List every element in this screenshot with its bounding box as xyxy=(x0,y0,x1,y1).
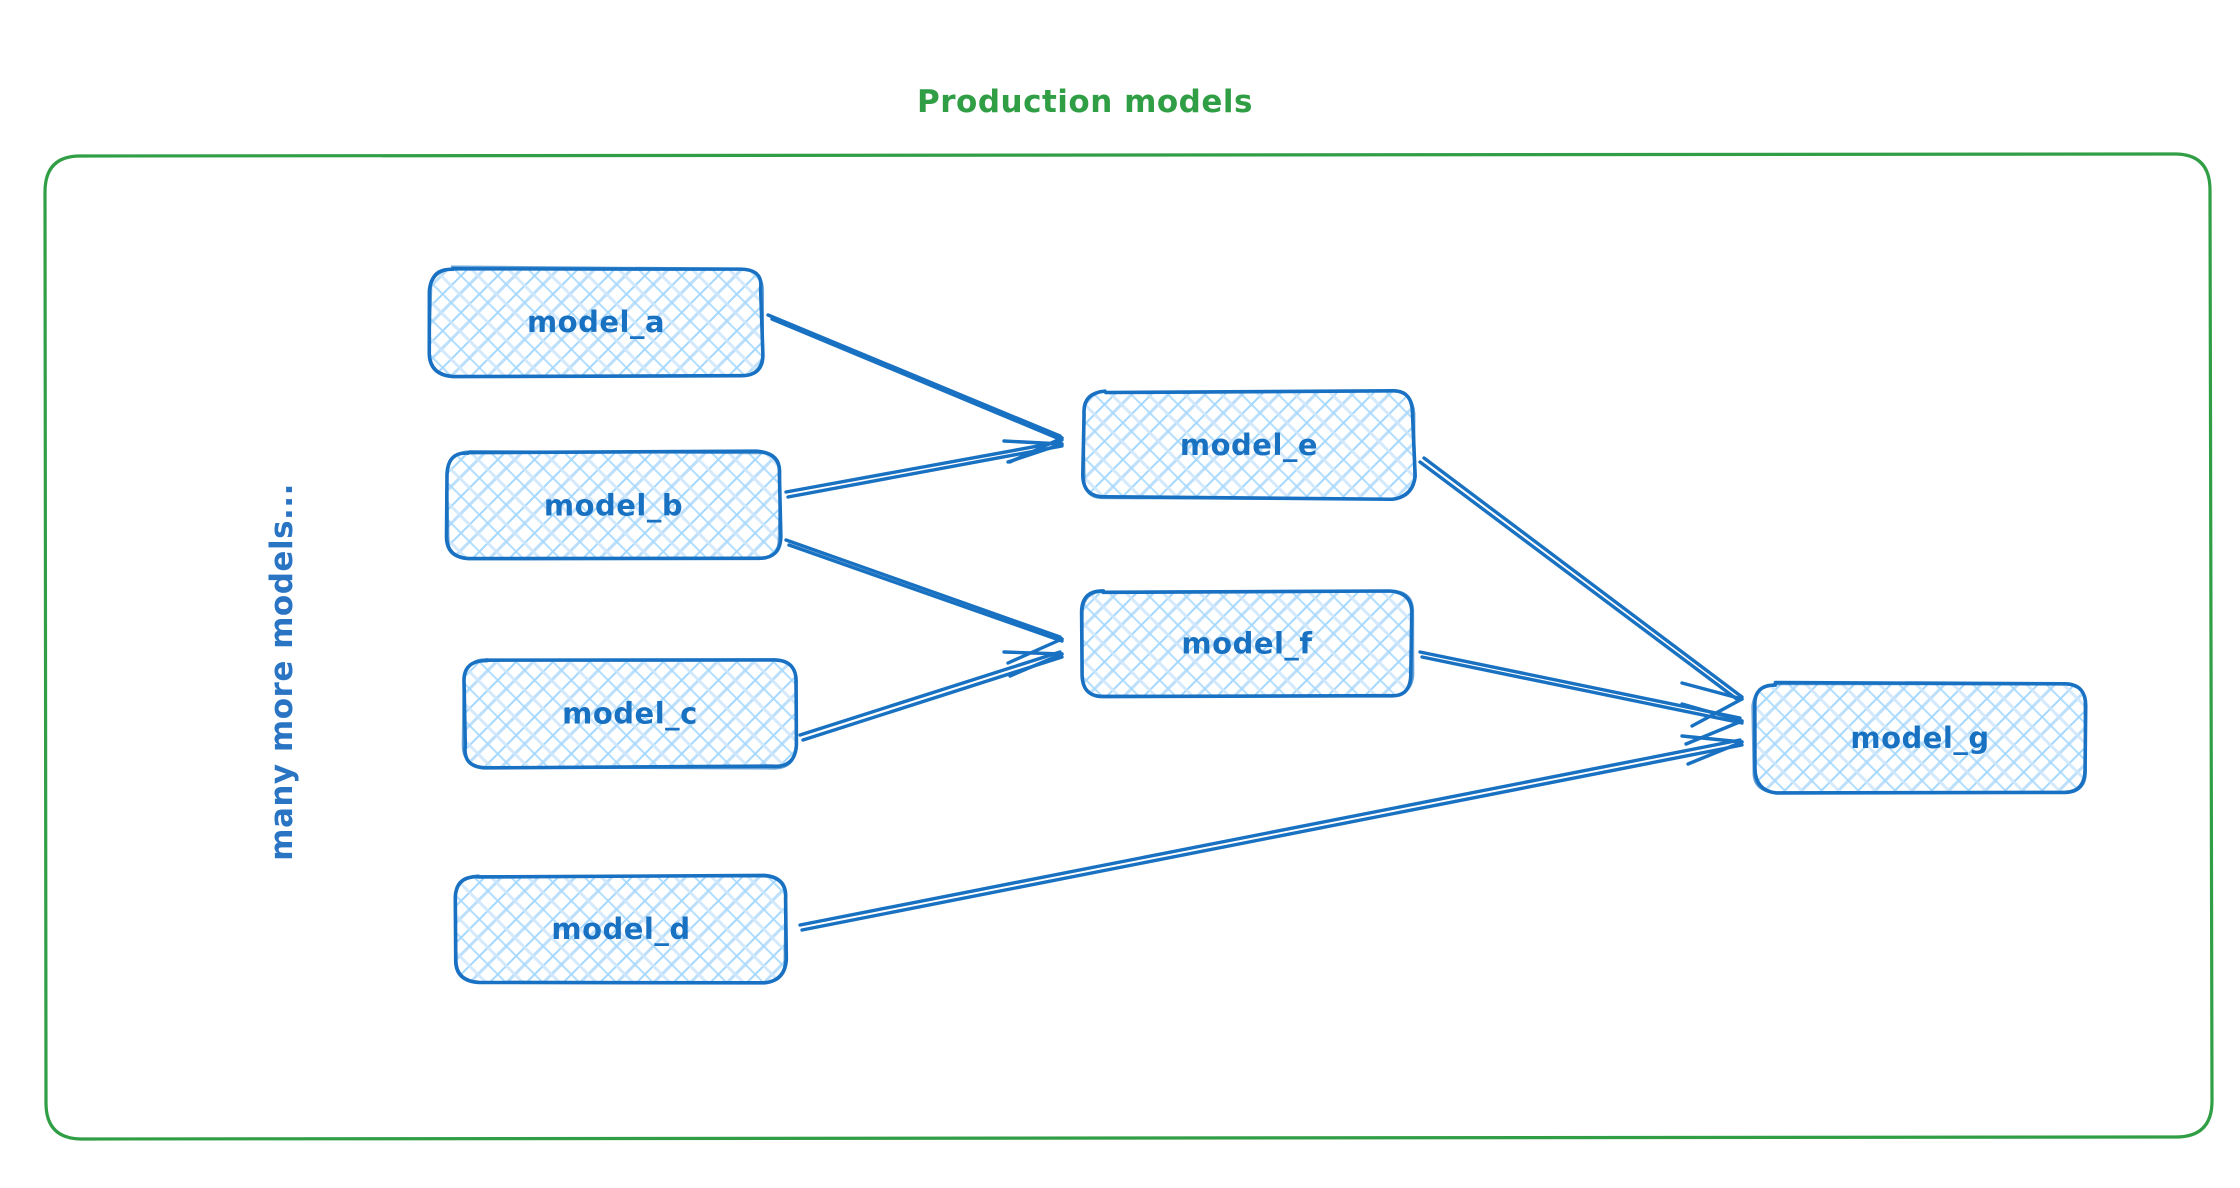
edge-model_c-model_f xyxy=(800,652,1062,740)
node-label: model_c xyxy=(562,697,698,731)
many-more-models-note: many more models... xyxy=(264,483,300,861)
node-model_e[interactable]: model_e xyxy=(1083,391,1415,499)
edge-model_b-model_e xyxy=(786,441,1062,497)
node-label: model_e xyxy=(1180,428,1318,462)
edge-model_a-model_e xyxy=(768,315,1062,462)
node-label: model_d xyxy=(551,912,690,946)
node-layer: model_amodel_bmodel_cmodel_dmodel_emodel… xyxy=(429,267,2086,983)
edge-model_d-model_g xyxy=(800,736,1742,930)
node-model_c[interactable]: model_c xyxy=(463,659,797,768)
page-title: Production models xyxy=(917,84,1253,120)
node-model_a[interactable]: model_a xyxy=(429,267,763,377)
node-label: model_b xyxy=(544,489,683,523)
diagram-canvas: Production models many more models... xyxy=(0,0,2240,1188)
node-model_f[interactable]: model_f xyxy=(1082,591,1414,697)
node-label: model_g xyxy=(1850,721,1989,755)
edge-model_b-model_f xyxy=(786,540,1062,663)
node-model_g[interactable]: model_g xyxy=(1752,683,2086,793)
node-model_d[interactable]: model_d xyxy=(455,875,786,983)
node-model_b[interactable]: model_b xyxy=(447,451,781,559)
node-label: model_a xyxy=(527,305,665,339)
dag-svg: Production models many more models... xyxy=(0,0,2240,1188)
node-label: model_f xyxy=(1181,627,1312,661)
